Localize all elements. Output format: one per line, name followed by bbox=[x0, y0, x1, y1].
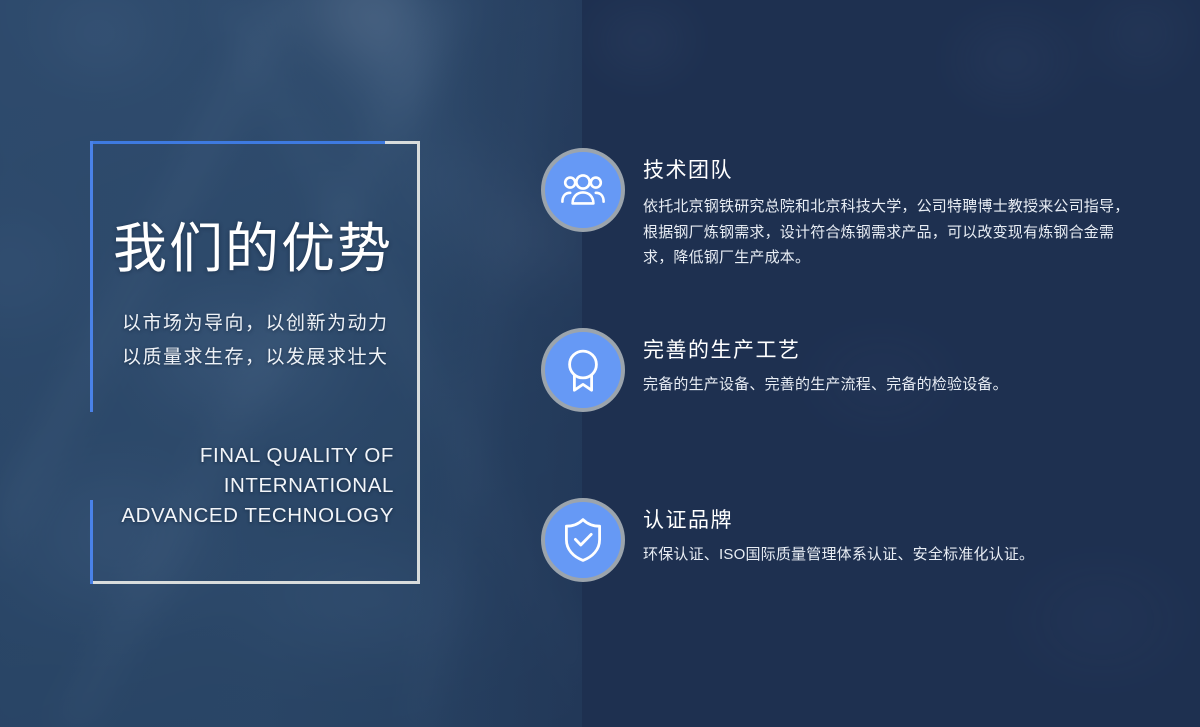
slide-canvas: 我们的优势 以市场为导向，以创新为动力 以质量求生存，以发展求壮大 FINAL … bbox=[0, 0, 1200, 727]
feature-description: 完备的生产设备、完善的生产流程、完备的检验设备。 bbox=[643, 372, 1135, 398]
feature-title: 完善的生产工艺 bbox=[643, 334, 801, 364]
frame-right-border bbox=[417, 141, 420, 584]
hero-english-line-1: FINAL QUALITY OF INTERNATIONAL bbox=[26, 441, 394, 501]
frame-top-light-segment bbox=[385, 141, 420, 144]
award-medal-icon bbox=[541, 328, 625, 412]
frame-left-border-upper bbox=[90, 141, 93, 412]
feature-title: 技术团队 bbox=[643, 154, 733, 184]
shield-check-icon bbox=[541, 498, 625, 582]
feature-title: 认证品牌 bbox=[643, 504, 733, 534]
hero-english-line-2: ADVANCED TECHNOLOGY bbox=[26, 501, 394, 531]
page-title: 我们的优势 bbox=[113, 222, 393, 276]
hero-english-tagline: FINAL QUALITY OF INTERNATIONAL ADVANCED … bbox=[26, 441, 394, 531]
feature-description: 环保认证、ISO国际质量管理体系认证、安全标准化认证。 bbox=[643, 542, 1135, 568]
frame-bottom-border bbox=[90, 581, 420, 584]
hero-subtitle-line-2: 以质量求生存，以发展求壮大 bbox=[122, 342, 389, 369]
frame-top-accent-segment bbox=[90, 141, 385, 144]
feature-description: 依托北京钢铁研究总院和北京科技大学，公司特聘博士教授来公司指导，根据钢厂炼钢需求… bbox=[643, 194, 1135, 271]
users-group-icon bbox=[541, 148, 625, 232]
hero-subtitle-line-1: 以市场为导向，以创新为动力 bbox=[122, 308, 389, 335]
